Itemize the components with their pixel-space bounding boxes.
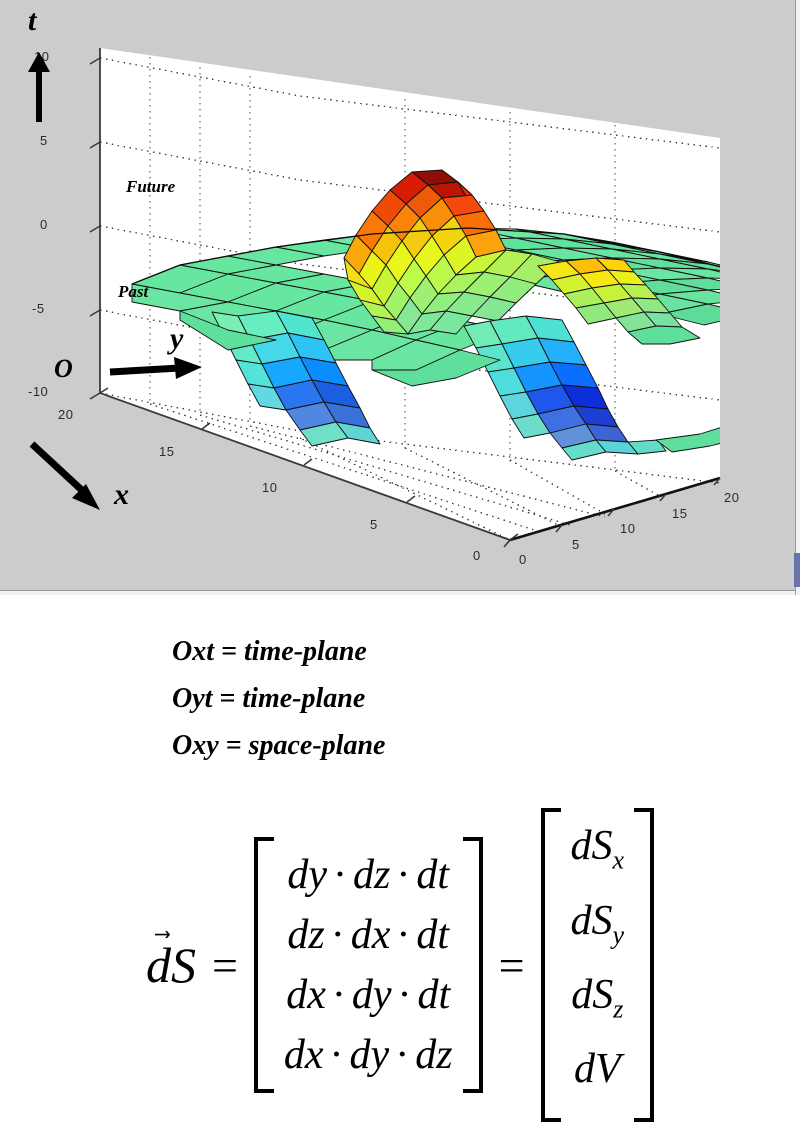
tick-t-0: 0 [40,217,48,232]
figure-panel: 10 5 0 -5 -10 20 15 10 5 0 0 5 10 15 20 … [0,0,800,595]
matrix-row: dV [571,1039,625,1113]
tick-x-20: 20 [58,407,73,422]
tick-x-10: 10 [262,480,277,495]
y-arrow-icon [108,355,204,383]
tick-x-15: 15 [159,444,174,459]
equals-sign-2: = [499,939,525,992]
tick-y-10: 10 [620,521,635,536]
surface-plot-svg [60,48,760,568]
matrix-row: dSz [571,965,625,1039]
left-matrix-open-bracket [254,837,274,1093]
axis-label-x: x [114,478,129,512]
right-matrix-open-bracket [541,808,561,1122]
scrollbar-accent[interactable] [794,553,800,587]
matrix-row: dy·dz·dt [284,845,453,905]
tick-t-neg5: -5 [32,301,45,316]
dot-operator: · [390,852,416,898]
term-base: dS [571,972,613,1018]
term-b: dy [352,972,392,1018]
surface-plot-axes: 10 5 0 -5 -10 20 15 10 5 0 0 5 10 15 20 [60,48,760,568]
term-b: dz [353,852,390,898]
tick-t-neg10: -10 [28,384,48,399]
axis-label-t: t [28,4,36,38]
matrix-row: dx·dy·dt [284,965,453,1025]
term-base: dV [574,1046,621,1092]
tick-y-20: 20 [724,490,739,505]
term-subscript: z [613,994,623,1023]
right-matrix-rows: dSx dSy dSz dV [561,808,635,1122]
caption-line-oxt: Oxt = time-plane [172,628,732,675]
equation-lhs-symbol: dS [146,937,196,993]
dot-operator: · [389,1032,415,1078]
caption-line-oxy: Oxy = space-plane [172,722,732,769]
tick-y-5: 5 [572,537,580,552]
dot-operator: · [326,972,352,1018]
dot-operator: · [325,912,351,958]
tick-y-0: 0 [519,552,527,567]
dot-operator: · [390,912,416,958]
panel-right-edge [795,0,800,595]
axis-label-origin: O [54,354,73,384]
tick-t-5: 5 [40,133,48,148]
term-b: dx [351,912,391,958]
equals-sign-1: = [212,939,238,992]
term-base: dS [571,823,613,869]
equation-lhs: ⃗ dS [146,936,196,994]
equation-block: ⃗ dS = dy·dz·dt dz·dx·dt dx·dy·dt dx·dy·… [0,820,800,1110]
dot-operator: · [327,852,353,898]
term-a: dy [287,852,327,898]
t-arrow-icon [24,52,56,124]
matrix-row: dSx [571,816,625,890]
matrix-row: dx·dy·dz [284,1025,453,1085]
term-a: dz [287,912,324,958]
axis-label-y: y [170,322,183,356]
x-arrow-icon [28,440,108,516]
term-base: dS [571,898,613,944]
left-matrix-close-bracket [463,837,483,1093]
term-a: dx [286,972,326,1018]
tick-x-5: 5 [370,517,378,532]
right-matrix: dSx dSy dSz dV [541,808,655,1122]
right-matrix-close-bracket [634,808,654,1122]
tick-x-0: 0 [473,548,481,563]
term-subscript: x [613,846,625,875]
panel-bottom-edge [0,590,800,595]
term-c: dz [415,1032,452,1078]
caption-block: Oxt = time-plane Oyt = time-plane Oxy = … [172,628,732,769]
matrix-row: dz·dx·dt [284,905,453,965]
term-b: dy [350,1032,390,1078]
dot-operator: · [324,1032,350,1078]
left-matrix: dy·dz·dt dz·dx·dt dx·dy·dt dx·dy·dz [254,837,483,1093]
label-future: Future [126,177,175,197]
term-a: dx [284,1032,324,1078]
matrix-row: dSy [571,891,625,965]
left-matrix-rows: dy·dz·dt dz·dx·dt dx·dy·dt dx·dy·dz [274,837,463,1093]
term-subscript: y [613,920,625,949]
label-past: Past [118,282,148,302]
dot-operator: · [392,972,418,1018]
caption-line-oyt: Oyt = time-plane [172,675,732,722]
term-c: dt [416,852,449,898]
term-c: dt [416,912,449,958]
tick-y-15: 15 [672,506,687,521]
term-c: dt [418,972,451,1018]
